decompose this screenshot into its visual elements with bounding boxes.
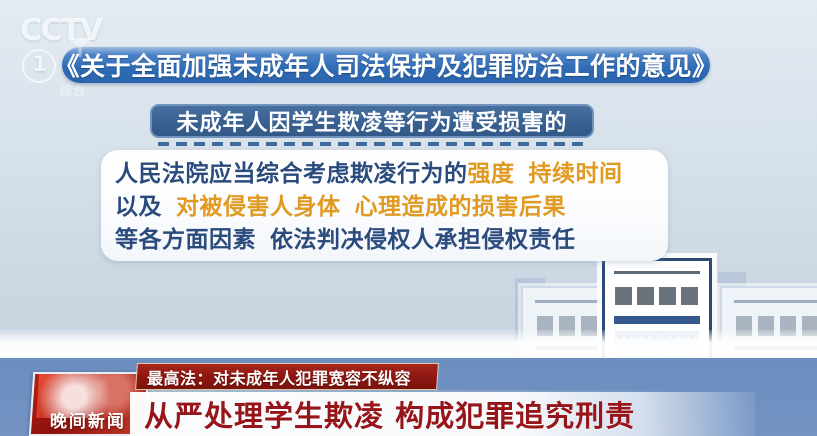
- subtitle-badge: 未成年人因学生欺凌等行为遭受损害的: [150, 104, 594, 138]
- content-line-1-part-a: 人民法院应当综合考虑欺凌行为的: [115, 161, 468, 187]
- program-logo-text: 晚间新闻: [32, 407, 144, 432]
- sub-banner-text: 最高法：对未成年人犯罪宽容不纵容: [147, 365, 411, 389]
- content-line-2-part-a: 以及: [115, 194, 162, 220]
- gavel-icon: [66, 36, 94, 58]
- content-line-2-part-c: 心理造成的损害后果: [355, 194, 567, 220]
- content-line-3-part-a: 等各方面因素: [115, 227, 256, 253]
- content-line-3: 等各方面因素依法判决侵权人承担侵权责任: [115, 224, 668, 257]
- sub-banner: 最高法：对未成年人犯罪宽容不纵容: [135, 363, 439, 390]
- headline-bar: 从严处理学生欺凌 构成犯罪追究刑责: [130, 392, 755, 436]
- title-banner: 《关于全面加强未成年人司法保护及犯罪防治工作的意见》: [62, 47, 710, 83]
- content-line-1-part-c: 持续时间: [529, 161, 623, 187]
- content-line-2-part-b: 对被侵害人身体: [176, 194, 341, 220]
- broadcast-screen: CCTV1 综合 《关于全面加强未成年人司法保护及犯罪防治工作的意见》 未成年人…: [0, 0, 817, 436]
- background-white-band: [0, 330, 817, 358]
- content-line-2: 以及对被侵害人身体心理造成的损害后果: [115, 191, 668, 224]
- badge-dashed-underline: [158, 142, 588, 146]
- content-line-1: 人民法院应当综合考虑欺凌行为的强度持续时间: [115, 158, 668, 191]
- title-banner-text: 《关于全面加强未成年人司法保护及犯罪防治工作的意见》: [62, 47, 710, 83]
- subtitle-badge-text: 未成年人因学生欺凌等行为遭受损害的: [176, 105, 567, 137]
- content-line-3-part-b: 依法判决侵权人承担侵权责任: [270, 227, 576, 253]
- content-line-1-part-b: 强度: [468, 161, 515, 187]
- headline-text: 从严处理学生欺凌 构成犯罪追究刑责: [144, 393, 635, 435]
- content-card: 人民法院应当综合考虑欺凌行为的强度持续时间 以及对被侵害人身体心理造成的损害后果…: [101, 150, 668, 261]
